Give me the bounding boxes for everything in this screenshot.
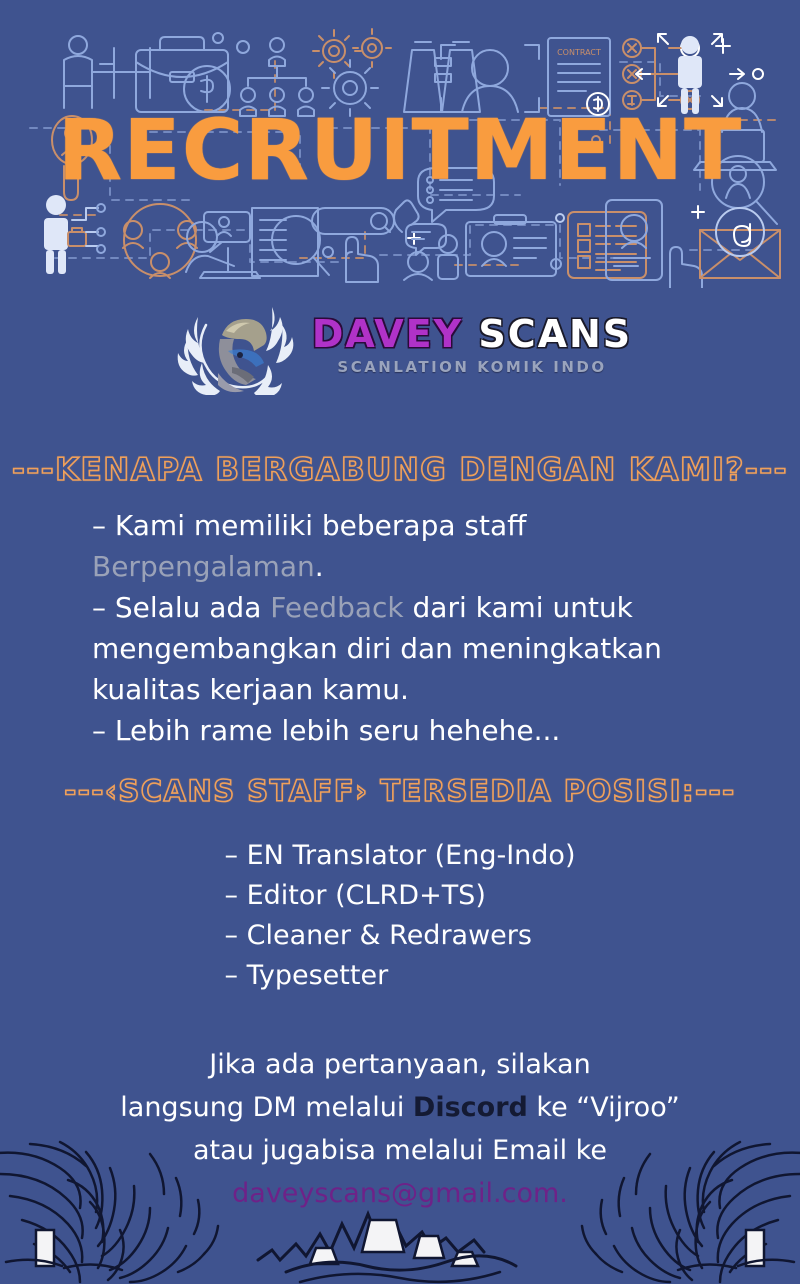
pointer-hand-icon (346, 237, 378, 282)
contact-line-2: langsung DM melalui Discord ke “Vijroo” (0, 1086, 800, 1129)
positions-list: – EN Translator (Eng-Indo) – Editor (CLR… (0, 836, 800, 996)
logo-tagline: SCANLATION KOMIK INDO (312, 358, 632, 376)
spartan-helmet-flames-emblem (168, 295, 308, 395)
contact-section: Jika ada pertanyaan, silakan langsung DM… (0, 1043, 800, 1215)
list-item: – Cleaner & Redrawers (225, 916, 576, 956)
reason-text: Kami memiliki beberapa staff (106, 509, 526, 542)
why-join-heading: ---KENAPA BERGABUNG DENGAN KAMI?--- (0, 452, 800, 488)
contact-line-3: atau jugabisa melalui Email ke (0, 1129, 800, 1172)
logo-name-secondary: SCANS (478, 312, 632, 356)
contact-line-1: Jika ada pertanyaan, silakan (0, 1043, 800, 1086)
list-item: – Editor (CLRD+TS) (225, 876, 576, 916)
reason-text: Lebih rame lebih seru hehehe... (106, 714, 560, 747)
person-at-desk-icon (64, 36, 150, 108)
list-item: – Lebih rame lebih seru hehehe... (92, 710, 752, 751)
recruitment-banner: CONTRACT (0, 0, 800, 288)
logo-name-primary: DAVEY (312, 312, 463, 356)
gears-icon (313, 29, 391, 78)
contact-handle: ke “Vijroo” (528, 1092, 680, 1123)
document-magnifier-icon (252, 208, 329, 276)
list-item: – EN Translator (Eng-Indo) (225, 836, 576, 876)
list-item: – Typesetter (225, 956, 576, 996)
positions-heading: ---‹SCANS STAFF› TERSEDIA POSISI:--- (0, 774, 800, 808)
contact-text: langsung DM melalui (120, 1092, 413, 1123)
person-pointer-icon (404, 224, 458, 280)
page-title: RECRUITMENT (0, 108, 800, 192)
bullet-dash: – (92, 591, 106, 624)
person-monitor-icon (186, 212, 260, 278)
reason-text-tail: . (315, 550, 324, 583)
email-at-icon (700, 208, 780, 278)
why-join-list: – Kami memiliki beberapa staff Berpengal… (92, 505, 752, 751)
bullet-dash: – (92, 509, 106, 542)
contact-email[interactable]: daveyscans@gmail.com. (0, 1172, 800, 1215)
contract-label: CONTRACT (557, 48, 601, 57)
user-badge-icon (44, 195, 105, 274)
reason-highlight: Feedback (270, 591, 403, 624)
discord-label: Discord (413, 1092, 528, 1123)
brand-logo: DAVEY SCANS SCANLATION KOMIK INDO (0, 292, 800, 397)
reason-text: Selalu ada (106, 591, 270, 624)
team-circle-icon (123, 204, 197, 278)
reason-highlight: Berpengalaman (92, 550, 315, 583)
list-item: – Kami memiliki beberapa staff Berpengal… (92, 505, 752, 587)
list-item: – Selalu ada Feedback dari kami untuk me… (92, 587, 752, 710)
bullet-dash: – (92, 714, 106, 747)
search-pill-icon (312, 208, 394, 234)
